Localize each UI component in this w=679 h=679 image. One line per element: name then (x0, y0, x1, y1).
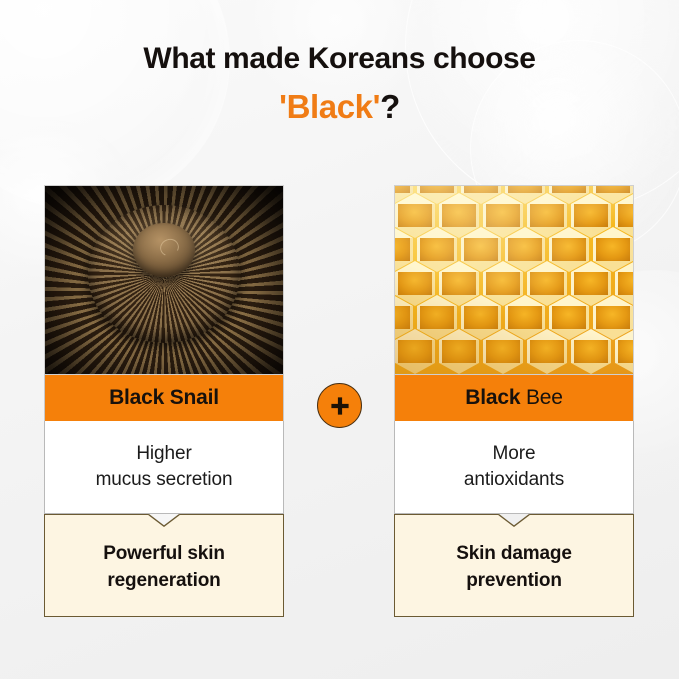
headline-line-1: What made Koreans choose (0, 40, 679, 78)
result-text: Skin damage prevention (456, 541, 572, 595)
card-title-band-black-snail: Black Snail (44, 375, 284, 421)
card-title-second-word: Bee (526, 386, 563, 409)
result-line-2: regeneration (107, 570, 220, 591)
benefit-box-black-bee: More antioxidants (394, 421, 634, 514)
infographic-canvas: What made Koreans choose 'Black'? Black … (0, 0, 679, 679)
benefit-text: More antioxidants (464, 441, 564, 493)
comparison-card-black-snail: Black Snail Higher mucus secretion Power… (44, 185, 284, 617)
headline-question-mark: ? (380, 88, 400, 125)
benefit-line-2: mucus secretion (96, 469, 233, 490)
result-box-black-bee: Skin damage prevention (394, 514, 634, 617)
result-line-1: Skin damage (456, 543, 572, 564)
benefit-line-1: Higher (136, 443, 191, 464)
result-line-1: Powerful skin (103, 543, 225, 564)
comparison-card-black-bee: Black Bee More antioxidants Skin damage … (394, 185, 634, 617)
headline-line-2: 'Black'? (0, 87, 679, 127)
plus-icon (317, 383, 362, 428)
card-title-bold-word: Black (109, 386, 164, 409)
card-title-text: Black Bee (465, 386, 562, 410)
result-box-black-snail: Powerful skin regeneration (44, 514, 284, 617)
benefit-line-1: More (493, 443, 536, 464)
headline-accent-word: 'Black' (279, 88, 380, 125)
result-box-wrapper-black-snail: Powerful skin regeneration (44, 514, 284, 617)
card-title-text: Black Snail (109, 386, 219, 410)
snail-shell-photo (44, 185, 284, 375)
result-text: Powerful skin regeneration (103, 541, 225, 595)
page-title: What made Koreans choose 'Black'? (0, 40, 679, 126)
card-title-bold-word: Black (465, 386, 520, 409)
card-title-band-black-bee: Black Bee (394, 375, 634, 421)
result-line-2: prevention (466, 570, 562, 591)
honeycomb-photo (394, 185, 634, 375)
card-title-second-word: Snail (170, 386, 219, 409)
result-box-wrapper-black-bee: Skin damage prevention (394, 514, 634, 617)
snail-vignette (45, 186, 283, 374)
honeycomb-lighting (395, 186, 633, 374)
benefit-text: Higher mucus secretion (96, 441, 233, 493)
benefit-box-black-snail: Higher mucus secretion (44, 421, 284, 514)
benefit-line-2: antioxidants (464, 469, 564, 490)
